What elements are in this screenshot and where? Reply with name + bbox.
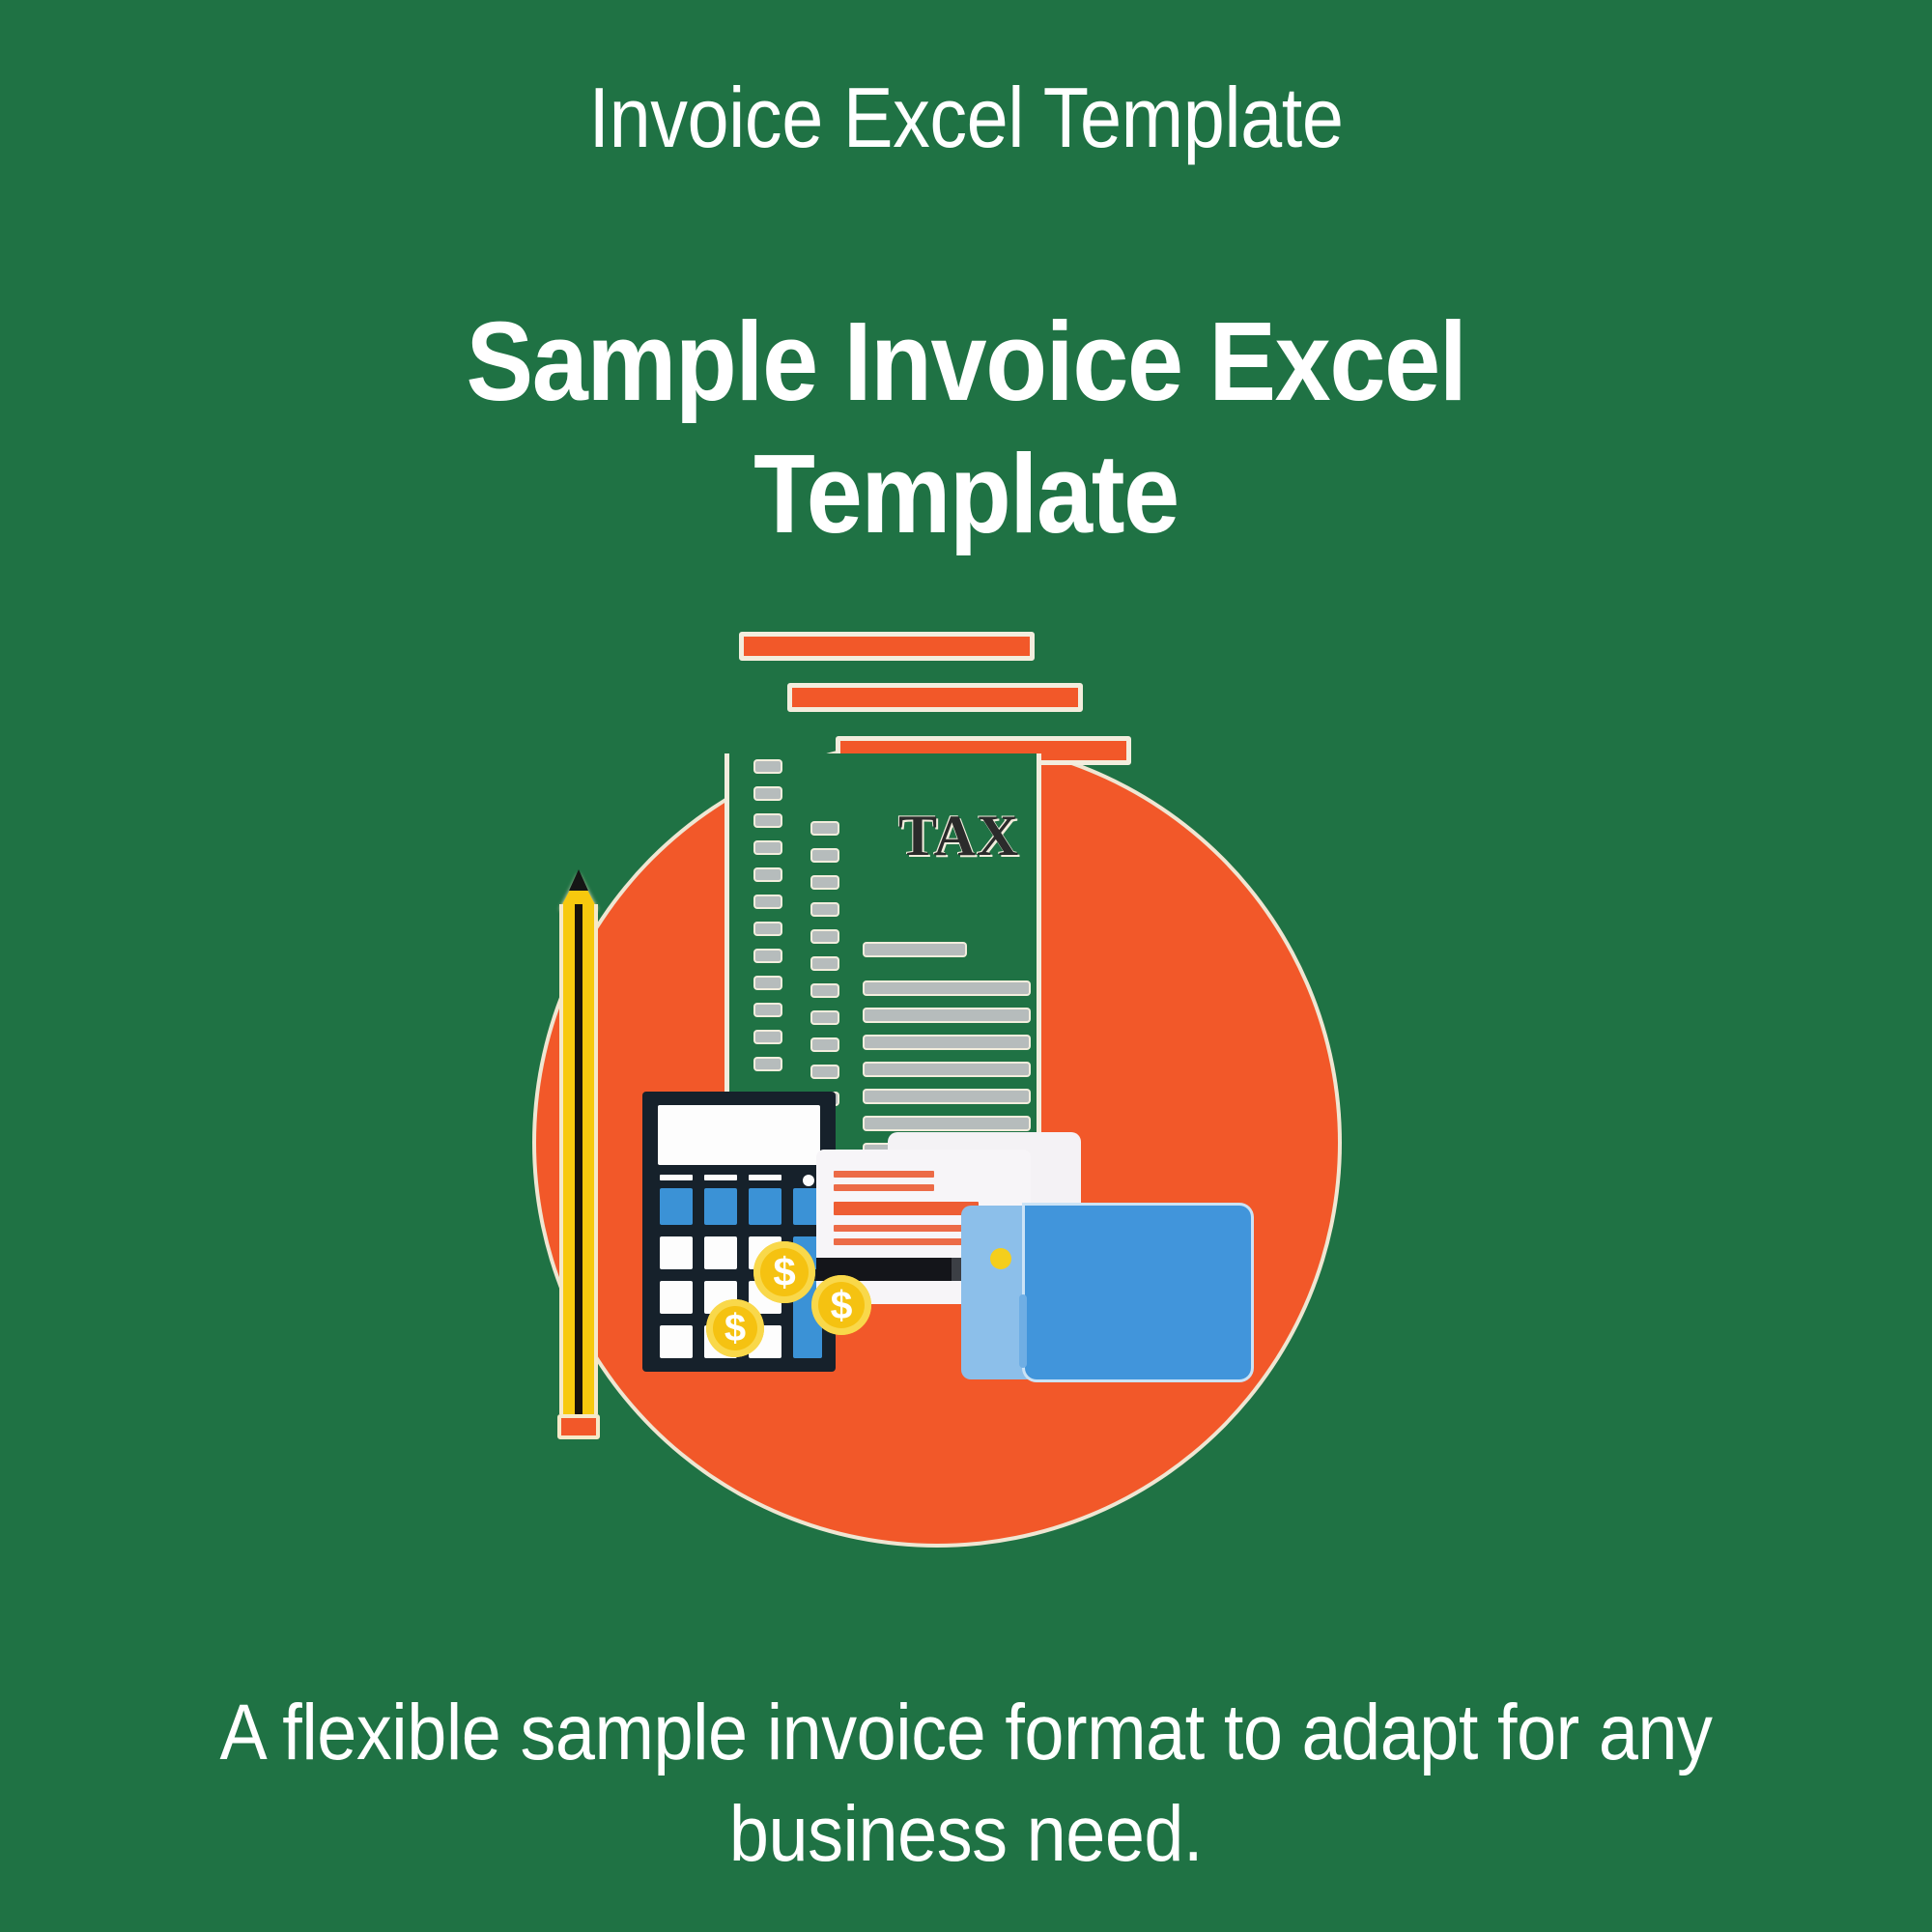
calculator-slot: [660, 1175, 693, 1180]
dash-mark: [755, 815, 781, 826]
coin-icon: $: [811, 1275, 871, 1335]
dash-mark: [755, 951, 781, 961]
document-line: [865, 1091, 1029, 1102]
dash-mark: [755, 978, 781, 988]
dash-mark: [755, 1032, 781, 1042]
document-line: [865, 982, 1029, 994]
wallet-crease: [1019, 1294, 1027, 1368]
dash-mark: [755, 869, 781, 880]
dash-mark: [755, 1059, 781, 1069]
calculator-key: [704, 1188, 737, 1225]
calculator-slot: [749, 1175, 781, 1180]
coin-icon: $: [753, 1241, 815, 1303]
calculator-key: [660, 1236, 693, 1269]
document-line: [865, 1009, 1029, 1021]
calculator-slot: [704, 1175, 737, 1180]
pencil-eraser: [557, 1414, 600, 1439]
dash-mark: [755, 1005, 781, 1015]
card-stripe: [834, 1225, 979, 1232]
document-line: [865, 944, 965, 955]
ribbon-middle: [787, 683, 1083, 712]
tax-document-title: TAX: [898, 807, 1019, 865]
dash-mark: [812, 1066, 838, 1077]
pencil-icon: [555, 852, 602, 1449]
dash-mark: [812, 931, 838, 942]
calculator-key: [660, 1188, 693, 1225]
coin-icon: $: [706, 1299, 764, 1357]
calculator-indicator-dot: [803, 1175, 814, 1186]
invoice-finance-illustration: TAX: [483, 599, 1449, 1565]
pencil-graphite-tip: [569, 869, 588, 891]
calculator-display: [658, 1105, 820, 1165]
eyebrow-title: Invoice Excel Template: [116, 73, 1816, 162]
poster-canvas: Invoice Excel Template Sample Invoice Ex…: [0, 0, 1932, 1932]
dash-mark: [755, 788, 781, 799]
page-title: Sample Invoice Excel Template: [253, 296, 1679, 560]
document-dash-column-left: [755, 761, 781, 1086]
dash-mark: [755, 896, 781, 907]
ribbon-top: [739, 632, 1035, 661]
calculator-key: [704, 1236, 737, 1269]
dash-mark: [812, 958, 838, 969]
document-line: [865, 1118, 1029, 1129]
dash-mark: [755, 923, 781, 934]
dash-mark: [755, 842, 781, 853]
document-line: [865, 1064, 1029, 1075]
calculator-key: [660, 1281, 693, 1314]
dash-mark: [812, 850, 838, 861]
card-stripe: [834, 1238, 979, 1245]
dash-mark: [812, 1039, 838, 1050]
card-stripe: [834, 1171, 934, 1178]
calculator-key: [749, 1188, 781, 1225]
pencil-stripe: [575, 904, 582, 1414]
wallet-icon: [961, 1206, 1251, 1379]
subtitle-caption: A flexible sample invoice format to adap…: [192, 1683, 1740, 1886]
document-dash-column-right: [812, 823, 838, 1121]
dash-mark: [812, 904, 838, 915]
wallet-clasp-button: [990, 1248, 1011, 1269]
dash-mark: [812, 823, 838, 834]
wallet-body: [1025, 1206, 1251, 1379]
dash-mark: [812, 985, 838, 996]
dash-mark: [812, 877, 838, 888]
document-line: [865, 1037, 1029, 1048]
card-stripe: [834, 1202, 979, 1215]
calculator-key: [660, 1325, 693, 1358]
card-stripe: [834, 1184, 934, 1191]
dash-mark: [755, 761, 781, 772]
dash-mark: [812, 1012, 838, 1023]
